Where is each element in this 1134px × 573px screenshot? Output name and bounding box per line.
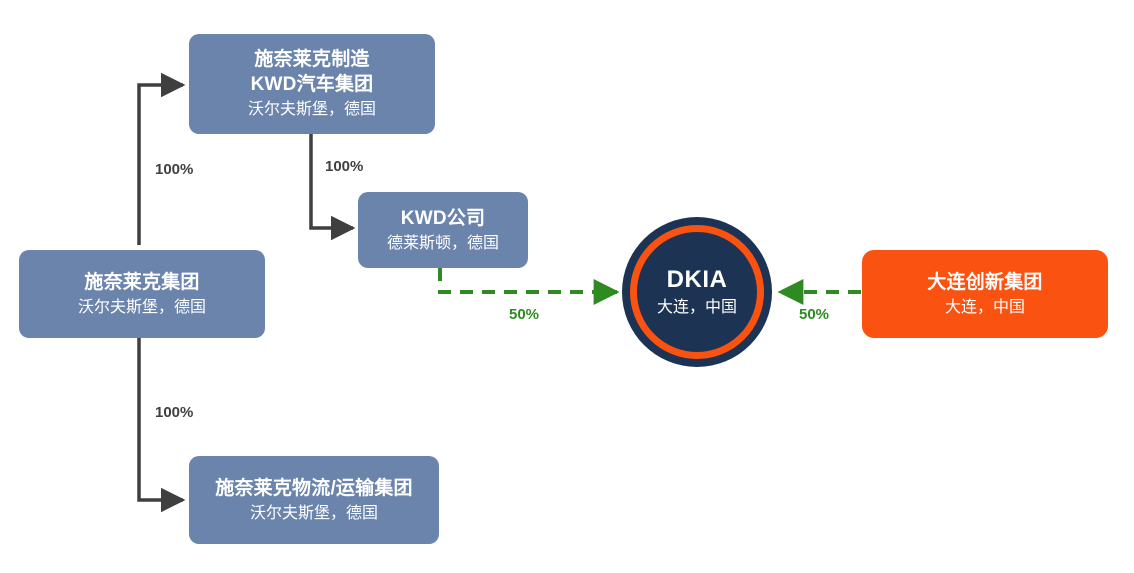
node-schnellecke-logistics[interactable]: 施奈莱克物流/运输集团 沃尔夫斯堡，德国 xyxy=(189,456,439,544)
node-kwd-gmbh[interactable]: KWD公司 德莱斯顿，德国 xyxy=(358,192,528,268)
node-title: KWD公司 xyxy=(401,206,485,231)
edge-kwd-to-dkia xyxy=(440,268,617,292)
node-schnellecke-group[interactable]: 施奈莱克集团 沃尔夫斯堡，德国 xyxy=(19,250,265,338)
node-subtitle: 沃尔夫斯堡，德国 xyxy=(78,297,206,319)
edge-label-group-to-manufacturing: 100% xyxy=(155,161,193,178)
node-title: 施奈莱克集团 xyxy=(84,270,199,295)
edge-manufacturing-to-kwd xyxy=(311,134,353,228)
edge-label-group-to-logistics: 100% xyxy=(155,404,193,421)
node-title: 大连创新集团 xyxy=(927,270,1042,295)
node-subtitle: 大连，中国 xyxy=(945,297,1025,319)
node-subtitle: 德莱斯顿，德国 xyxy=(387,233,499,255)
diagram-canvas: 施奈莱克制造 KWD汽车集团 沃尔夫斯堡，德国 KWD公司 德莱斯顿，德国 施奈… xyxy=(0,0,1134,573)
node-subtitle: 大连，中国 xyxy=(657,297,737,319)
edge-label-kwd-to-dkia: 50% xyxy=(509,306,539,323)
edge-label-dalian-to-dkia: 50% xyxy=(799,306,829,323)
node-title: DKIA xyxy=(667,266,728,294)
node-dkia[interactable]: DKIA 大连，中国 xyxy=(622,217,772,367)
node-subtitle: 沃尔夫斯堡，德国 xyxy=(250,503,378,525)
node-title: 施奈莱克制造 xyxy=(254,47,369,72)
edge-label-manufacturing-to-kwd: 100% xyxy=(325,158,363,175)
node-subtitle: 沃尔夫斯堡，德国 xyxy=(248,99,376,121)
node-schnellecke-manufacturing[interactable]: 施奈莱克制造 KWD汽车集团 沃尔夫斯堡，德国 xyxy=(189,34,435,134)
node-title-line2: KWD汽车集团 xyxy=(251,72,374,97)
node-dalian-innovation[interactable]: 大连创新集团 大连，中国 xyxy=(862,250,1108,338)
node-title: 施奈莱克物流/运输集团 xyxy=(215,476,412,501)
